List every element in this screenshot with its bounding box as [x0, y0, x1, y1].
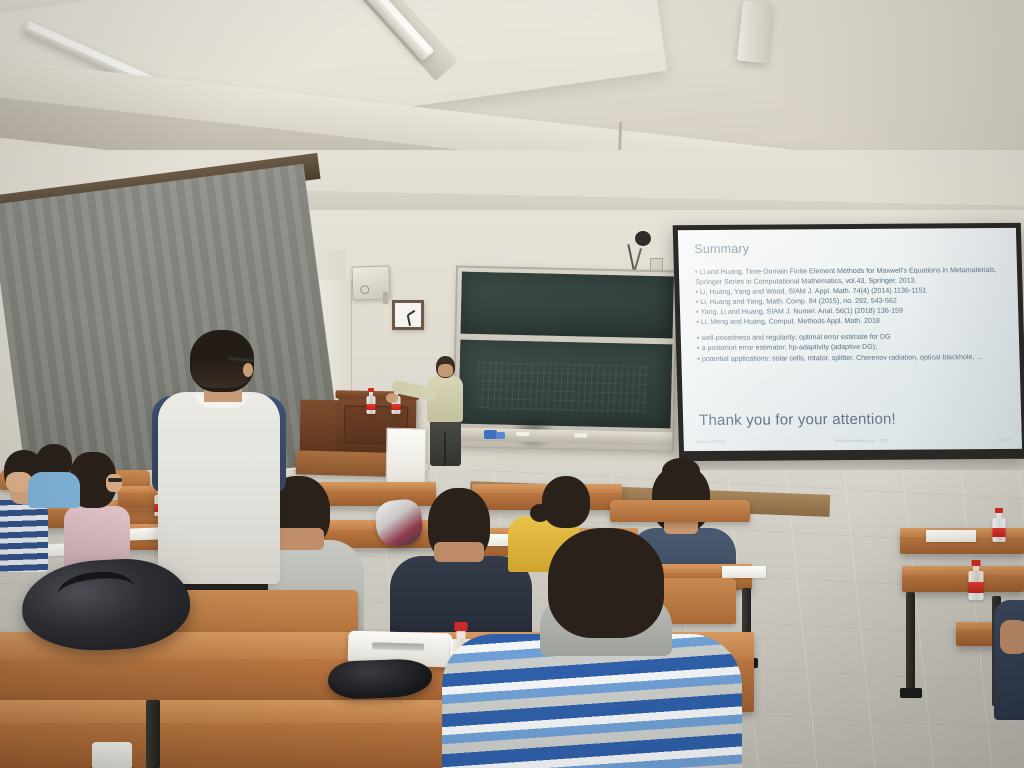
clock-minute-hand — [407, 315, 411, 326]
water-bottle — [968, 560, 984, 600]
slide-title: Summary — [694, 240, 1002, 256]
student-head — [548, 528, 664, 638]
water-bottle — [992, 508, 1006, 542]
speaker-bracket — [383, 292, 388, 304]
slide-reference-item: • Li, Meng and Huang, Comput. Methods Ap… — [696, 315, 1004, 327]
camera-icon — [635, 231, 651, 246]
blackboard — [452, 266, 678, 453]
whiteboard-panel — [385, 428, 426, 487]
standing-attendee-hair — [192, 358, 250, 388]
slide-finding-item: • potential applications: solar cells, r… — [697, 351, 1005, 363]
water-bottle — [366, 388, 376, 414]
front-desk-lower — [0, 700, 464, 768]
student-desk — [902, 566, 1024, 592]
student-torso — [0, 500, 48, 572]
desk-leg — [906, 592, 915, 692]
projection-screen-surface: Summary • Li and Huang, Time-Domain Fini… — [678, 228, 1022, 451]
hair-tie — [530, 504, 550, 522]
desk-foot — [900, 688, 922, 698]
slide-footer: Jichun Li (UNLV) Peking University, Aug … — [684, 437, 1022, 449]
glasses-icon — [108, 478, 122, 482]
marker-box — [496, 432, 505, 439]
student-face — [106, 474, 122, 492]
chalk-writing — [477, 362, 648, 414]
student-torso — [994, 600, 1024, 720]
lecturer-hand — [386, 393, 398, 403]
blackboard-panel-lower — [459, 340, 673, 429]
student-arm — [1000, 620, 1024, 654]
projection-screen: Summary • Li and Huang, Time-Domain Fini… — [673, 223, 1024, 461]
slide-footer-left: Jichun Li (UNLV) — [696, 439, 726, 449]
slide-body: • Li and Huang, Time-Domain Finite Eleme… — [695, 265, 1006, 364]
slide-page-number: 34 / 35 — [997, 437, 1010, 447]
student-neck — [434, 542, 484, 562]
lecturer-leg-split — [444, 432, 446, 466]
slide-closing-message: Thank you for your attention! — [699, 411, 896, 429]
paper-sheet — [926, 530, 976, 542]
hair-bun — [662, 458, 700, 484]
bench-backrest — [610, 500, 750, 522]
paper-cup — [92, 742, 132, 768]
fluorescent-tube-light — [737, 1, 773, 64]
lecturer-face — [438, 364, 453, 377]
chalk-piece — [516, 432, 529, 436]
clock-icon — [392, 300, 424, 330]
slide-reference-item: • Li and Huang, Time-Domain Finite Eleme… — [695, 265, 1004, 287]
slide-findings: • well-posedness and regularity; optimal… — [697, 331, 1006, 363]
desk-leg — [146, 700, 160, 768]
case-slot — [372, 642, 424, 650]
standing-attendee-ear — [243, 363, 253, 377]
presentation-slide: Summary • Li and Huang, Time-Domain Fini… — [678, 228, 1022, 451]
blackboard-panel-upper — [461, 272, 674, 339]
chalk-piece — [574, 433, 587, 437]
student-head — [542, 476, 590, 528]
slide-footer-right: Peking University, Aug 7, 2018 — [834, 438, 888, 448]
paper-sheet — [722, 566, 766, 578]
lecture-hall-photo: Summary • Li and Huang, Time-Domain Fini… — [0, 0, 1024, 768]
slide-references: • Li and Huang, Time-Domain Finite Eleme… — [695, 265, 1005, 328]
standing-attendee-shirt — [158, 392, 280, 584]
student-torso — [28, 472, 80, 508]
